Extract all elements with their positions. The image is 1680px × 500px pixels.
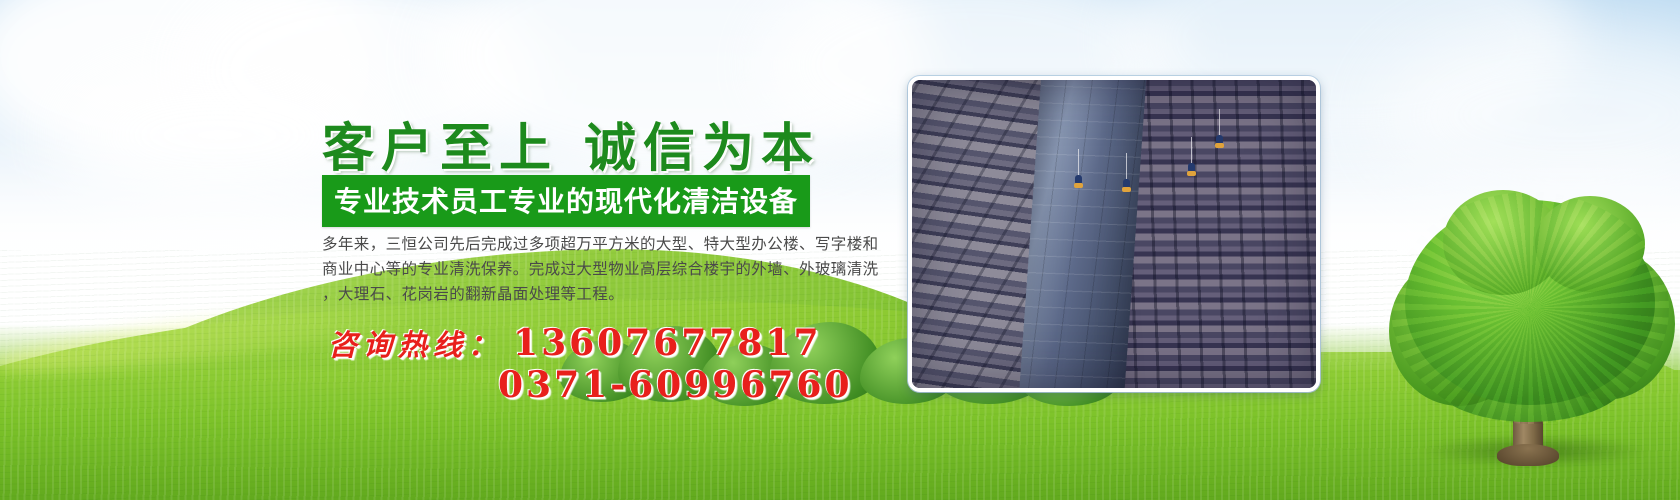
- intro-paragraph: 多年来，三恒公司先后完成过多项超万平方米的大型、特大型办公楼、写字楼和 商业中心…: [322, 232, 887, 307]
- paragraph-line: 商业中心等的专业清洗保养。完成过大型物业高层综合楼宇的外墙、外玻璃清洗: [322, 257, 887, 282]
- hotline-landline-number[interactable]: 0371-60996760: [498, 364, 853, 406]
- paragraph-line: ，大理石、花岗岩的翻新晶面处理等工程。: [322, 282, 887, 307]
- subtitle-bar: 专业技术员工专业的现代化清洁设备: [322, 175, 810, 227]
- tree-leaf-texture: [1391, 192, 1669, 424]
- headline-part-2: 诚信为本: [584, 118, 820, 179]
- headline-part-1: 客户至上: [322, 118, 558, 179]
- hotline-mobile-number[interactable]: 13607677817: [513, 322, 822, 364]
- hotline-row: 咨询热线： 13607677817: [328, 322, 822, 364]
- page-title: 客户至上诚信为本: [322, 106, 820, 181]
- paragraph-line: 多年来，三恒公司先后完成过多项超万平方米的大型、特大型办公楼、写字楼和: [322, 232, 887, 257]
- building-photo: [912, 80, 1316, 388]
- building-photo-card[interactable]: [908, 76, 1320, 392]
- hero-banner: 客户至上诚信为本 专业技术员工专业的现代化清洁设备 多年来，三恒公司先后完成过多…: [0, 0, 1680, 500]
- photo-vignette: [912, 80, 1316, 388]
- decorative-tree: [1385, 190, 1675, 490]
- hotline-label: 咨询热线：: [328, 322, 503, 364]
